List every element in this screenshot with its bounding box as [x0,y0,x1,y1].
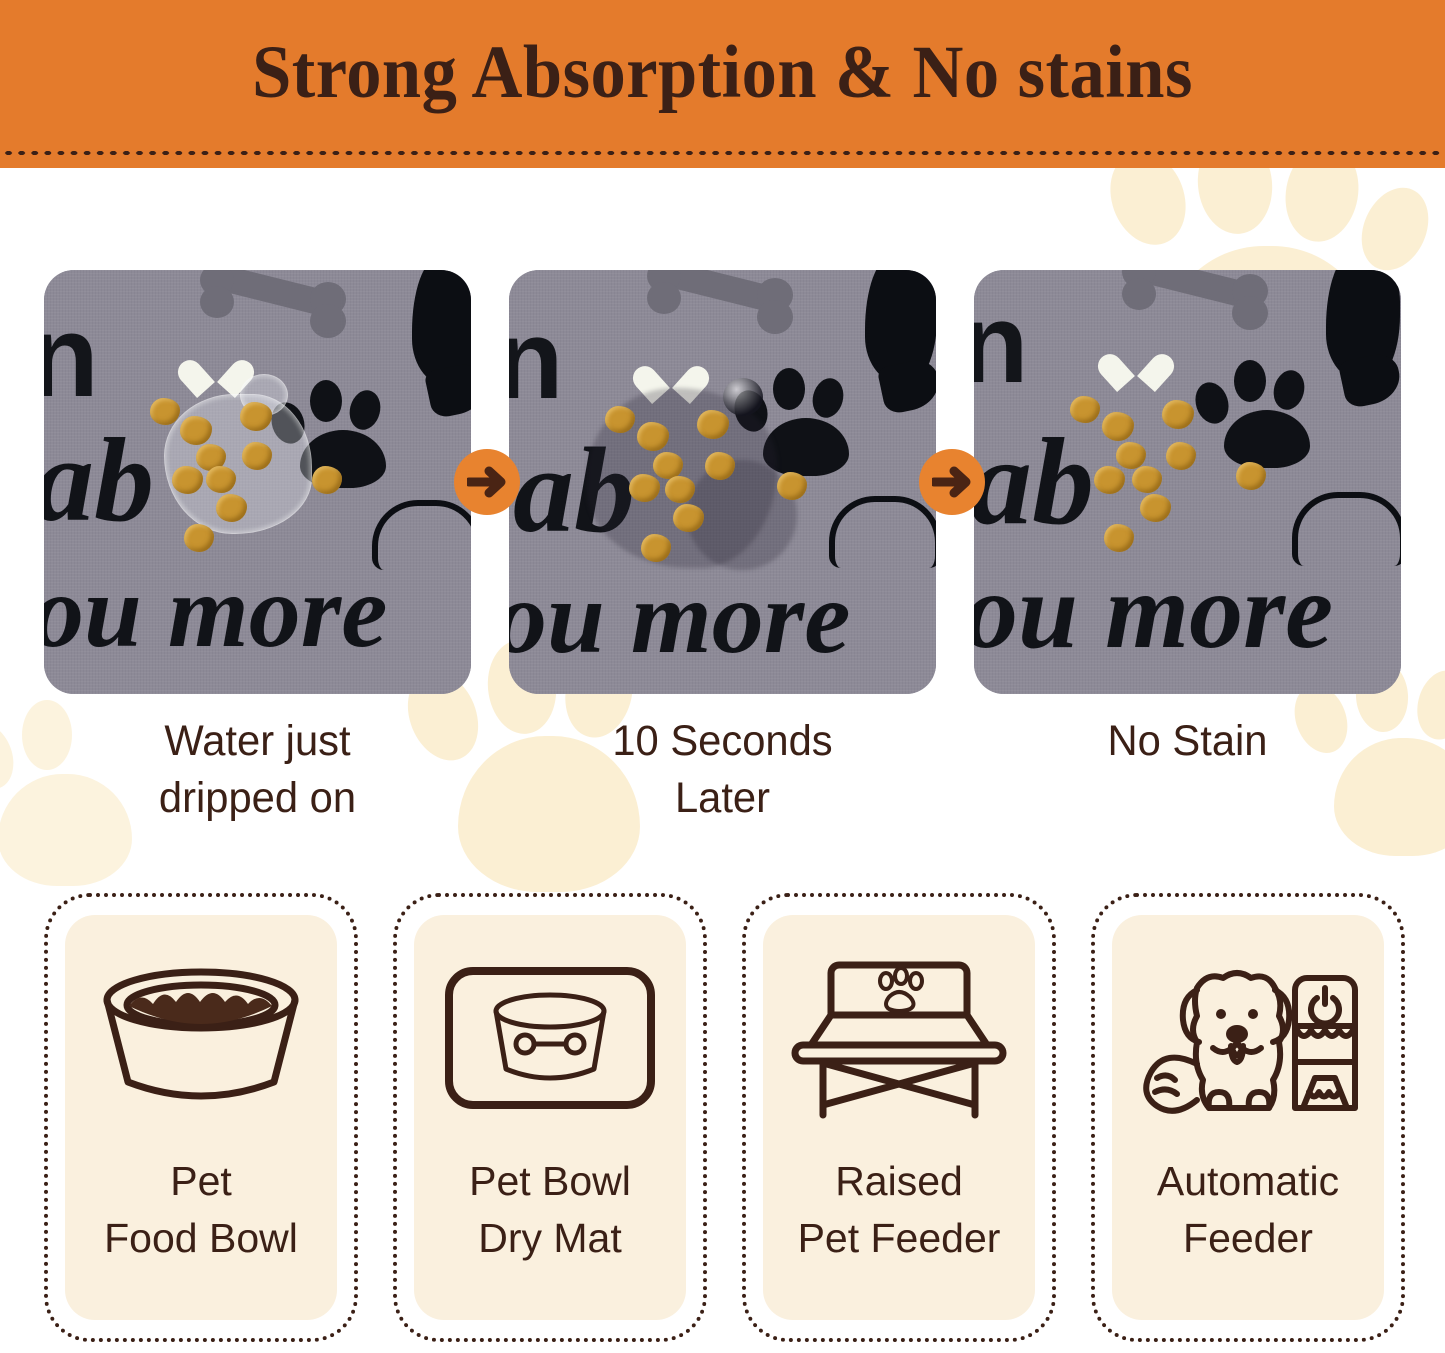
card-label: Automatic Feeder [1112,1153,1384,1266]
pet-bowl-dry-mat-icon [414,939,686,1139]
caption-line: No Stain [980,713,1394,770]
card-panel: Raised Pet Feeder [763,915,1035,1320]
card-label: Pet Food Bowl [65,1153,337,1266]
heart-graphic [194,354,238,394]
arrow-right-icon-1 [454,449,520,515]
mat-letter-n: n [509,304,563,416]
caption-line: Later [515,770,929,827]
mat-text-ou-more: ou more [974,558,1333,666]
dog-silhouette-paw-outline [1292,492,1401,566]
caption-ten-seconds-later: 10 Seconds Later [515,713,929,827]
bone-graphic [1114,270,1274,318]
card-label: Pet Bowl Dry Mat [414,1153,686,1266]
use-case-card-automatic-feeder[interactable]: Automatic Feeder [1091,893,1405,1342]
card-panel: Pet Bowl Dry Mat [414,915,686,1320]
card-label-line: Pet Bowl [414,1153,686,1210]
dog-silhouette-paw-outline [372,500,471,570]
mat-text-ou-more: ou more [509,566,850,670]
paw-print-graphic [1196,358,1326,470]
dog-silhouette-paw-outline [829,496,936,568]
caption-line: Water just [50,713,464,770]
paw-print-icon [880,968,922,1011]
card-label: Raised Pet Feeder [763,1153,1035,1266]
photo-ten-seconds-later: n ab ou more [509,270,936,694]
mat-letter-n: n [974,288,1028,400]
caption-no-stain: No Stain [980,713,1394,770]
absorption-demo-strip: n ab ou more [44,270,1401,694]
mat-letter-ab: ab [974,420,1094,544]
bone-graphic [192,270,352,326]
photo-water-dripped: n ab ou more [44,270,471,694]
card-label-line: Feeder [1112,1210,1384,1267]
card-panel: Pet Food Bowl [65,915,337,1320]
card-label-line: Food Bowl [65,1210,337,1267]
card-label-line: Dry Mat [414,1210,686,1267]
heart-graphic [1114,348,1158,388]
card-label-line: Raised [763,1153,1035,1210]
caption-water-dripped: Water just dripped on [50,713,464,827]
dotted-divider-icon [0,149,1445,157]
power-button-icon [1311,988,1339,1023]
use-case-card-raised-pet-feeder[interactable]: Raised Pet Feeder [742,893,1056,1342]
mat-text-ou-more: ou more [44,560,387,664]
use-case-card-pet-bowl-dry-mat[interactable]: Pet Bowl Dry Mat [393,893,707,1342]
mat-letter-ab: ab [44,420,154,540]
card-label-line: Pet Feeder [763,1210,1035,1267]
arrow-right-icon-2 [919,449,985,515]
pet-food-bowl-icon [65,939,337,1139]
automatic-feeder-icon [1112,939,1384,1139]
caption-line: dripped on [50,770,464,827]
dog-illustration [1146,973,1289,1111]
card-label-line: Pet [65,1153,337,1210]
caption-line: 10 Seconds [515,713,929,770]
raised-pet-feeder-icon [763,939,1035,1139]
water-bead-remaining [723,378,763,416]
card-label-line: Automatic [1112,1153,1384,1210]
header-banner: Strong Absorption & No stains [0,0,1445,168]
bone-graphic [639,270,799,322]
use-case-card-grid: Pet Food Bowl Pet Bowl Dry Mat [44,893,1406,1353]
card-panel: Automatic Feeder [1112,915,1384,1320]
use-case-card-pet-food-bowl[interactable]: Pet Food Bowl [44,893,358,1342]
page-title: Strong Absorption & No stains [43,30,1401,116]
photo-no-stain: n ab ou more [974,270,1401,694]
mat-letter-n: n [44,298,99,414]
